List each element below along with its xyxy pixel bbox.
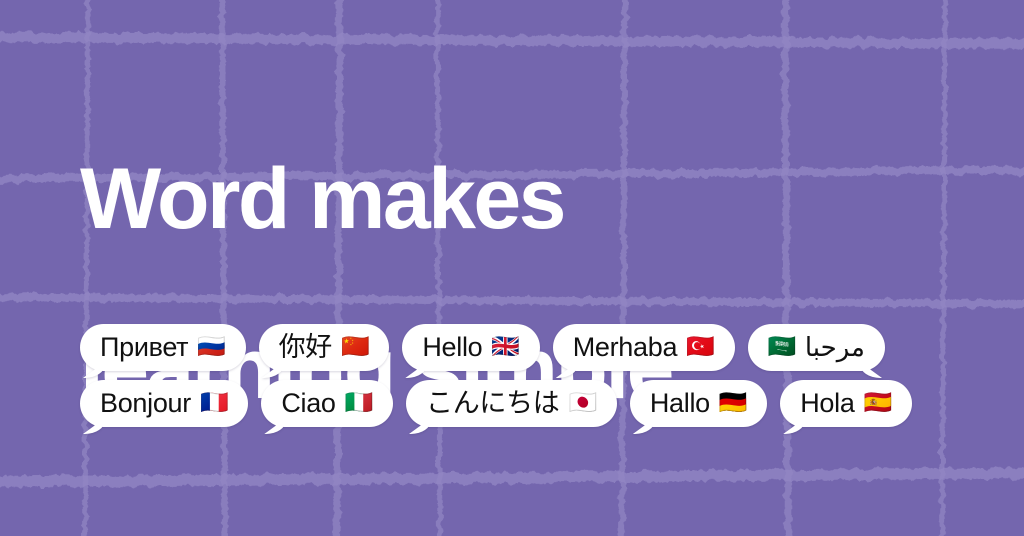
greeting-bubble-turkish[interactable]: Merhaba🇹🇷 bbox=[553, 324, 735, 371]
greeting-text: Bonjour bbox=[100, 390, 191, 417]
flag-saudi-arabia-icon: 🇸🇦 bbox=[768, 336, 796, 359]
flag-france-icon: 🇫🇷 bbox=[200, 392, 228, 415]
greeting-text: こんにちは bbox=[426, 390, 560, 417]
flag-japan-icon: 🇯🇵 bbox=[569, 392, 597, 415]
greeting-bubble-italian[interactable]: Ciao🇮🇹 bbox=[261, 380, 393, 427]
greeting-row-1: Привет🇷🇺你好🇨🇳Hello🇬🇧Merhaba🇹🇷مرحبا🇸🇦 bbox=[0, 324, 1024, 371]
greeting-bubble-japanese[interactable]: こんにちは🇯🇵 bbox=[406, 380, 617, 427]
greeting-bubble-chinese[interactable]: 你好🇨🇳 bbox=[259, 324, 390, 371]
greeting-row-2: Bonjour🇫🇷Ciao🇮🇹こんにちは🇯🇵Hallo🇩🇪Hola🇪🇸 bbox=[0, 380, 1024, 427]
flag-turkey-icon: 🇹🇷 bbox=[686, 336, 714, 359]
greeting-bubble-spanish[interactable]: Hola🇪🇸 bbox=[780, 380, 912, 427]
flag-spain-icon: 🇪🇸 bbox=[864, 392, 892, 415]
headline-line-1: Word makes bbox=[80, 157, 693, 242]
flag-china-icon: 🇨🇳 bbox=[341, 336, 369, 359]
greeting-bubble-group: Привет🇷🇺你好🇨🇳Hello🇬🇧Merhaba🇹🇷مرحبا🇸🇦Bonjo… bbox=[0, 324, 1024, 436]
flag-germany-icon: 🇩🇪 bbox=[719, 392, 747, 415]
greeting-text: Hallo bbox=[650, 390, 710, 417]
greeting-bubble-french[interactable]: Bonjour🇫🇷 bbox=[80, 380, 248, 427]
greeting-bubble-english[interactable]: Hello🇬🇧 bbox=[402, 324, 539, 371]
greeting-text: مرحبا bbox=[805, 334, 865, 360]
greeting-text: 你好 bbox=[279, 334, 332, 361]
hero-banner: Word makes learning simple. Привет🇷🇺你好🇨🇳… bbox=[0, 0, 1024, 536]
flag-russia-icon: 🇷🇺 bbox=[197, 336, 225, 359]
flag-italy-icon: 🇮🇹 bbox=[345, 392, 373, 415]
greeting-text: Merhaba bbox=[573, 334, 677, 361]
greeting-bubble-russian[interactable]: Привет🇷🇺 bbox=[80, 324, 246, 371]
greeting-text: Ciao bbox=[281, 390, 335, 417]
greeting-bubble-arabic[interactable]: مرحبا🇸🇦 bbox=[748, 324, 885, 371]
greeting-text: Hello bbox=[422, 334, 482, 361]
greeting-bubble-german[interactable]: Hallo🇩🇪 bbox=[630, 380, 767, 427]
flag-united-kingdom-icon: 🇬🇧 bbox=[491, 336, 519, 359]
greeting-text: Hola bbox=[800, 390, 854, 417]
greeting-text: Привет bbox=[100, 334, 188, 361]
